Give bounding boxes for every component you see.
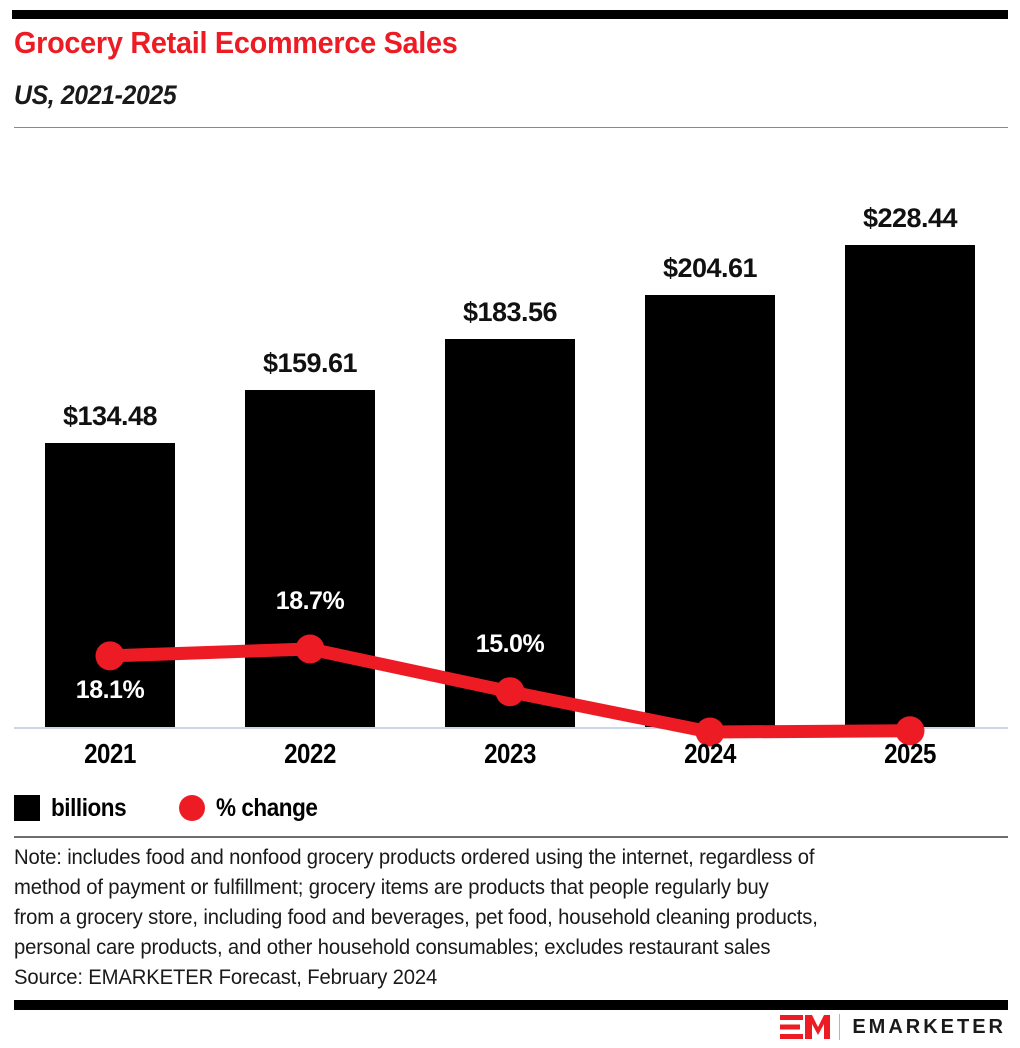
chart-plot-area: $134.48$159.61$183.56$204.61$228.44 18.1… (0, 140, 1020, 740)
x-axis-label-2024: 2024 (637, 738, 783, 770)
x-axis-label-2025: 2025 (837, 738, 983, 770)
note-block: Note: includes food and nonfood grocery … (14, 843, 1004, 993)
x-axis-label-2023: 2023 (437, 738, 583, 770)
legend-label: % change (216, 794, 317, 823)
chart-legend: billions% change (14, 791, 372, 825)
legend-square-icon (14, 795, 40, 821)
legend-label: billions (51, 794, 126, 823)
source-line: Source: EMARKETER Forecast, February 202… (14, 963, 969, 993)
bar-value-label-2022: $159.61 (225, 348, 395, 379)
bar-value-label-2023: $183.56 (425, 297, 595, 328)
em-logo-icon (780, 1015, 830, 1039)
legend-item-2[interactable]: % change (179, 794, 329, 823)
legend-item-1[interactable]: billions (14, 794, 135, 823)
note-line: method of payment or fulfillment; grocer… (14, 873, 969, 903)
note-line: from a grocery store, including food and… (14, 903, 969, 933)
em-mark-svg (780, 1015, 830, 1039)
note-divider-top (14, 836, 1008, 838)
legend-circle-icon (179, 795, 205, 821)
footer: EMARKETER (0, 1010, 1020, 1048)
bar-value-label-2025: $228.44 (825, 203, 995, 234)
percent-label-2021: 18.1% (25, 676, 195, 705)
x-axis-label-2022: 2022 (237, 738, 383, 770)
emarketer-logo: EMARKETER (780, 1013, 1006, 1041)
chart-page: Grocery Retail Ecommerce Sales US, 2021-… (0, 0, 1020, 1048)
logo-wordmark: EMARKETER (852, 1016, 1006, 1039)
note-line: Note: includes food and nonfood grocery … (14, 843, 969, 873)
x-axis-labels: 20212022202320242025 (0, 738, 1020, 772)
data-point-2022 (296, 635, 325, 664)
note-divider-bottom (14, 1000, 1008, 1010)
header-divider (14, 127, 1008, 128)
page-subtitle: US, 2021-2025 (14, 80, 176, 110)
data-point-2021 (96, 641, 125, 670)
logo-divider (839, 1014, 840, 1040)
bar-value-label-2024: $204.61 (625, 253, 795, 284)
percent-label-2023: 15.0% (425, 630, 595, 659)
note-line: personal care products, and other househ… (14, 933, 969, 963)
bar-value-label-2021: $134.48 (25, 401, 195, 432)
top-rule (12, 10, 1008, 19)
x-axis-label-2021: 2021 (37, 738, 183, 770)
percent-label-2022: 18.7% (225, 587, 395, 616)
data-point-2023 (496, 677, 525, 706)
page-title: Grocery Retail Ecommerce Sales (14, 26, 458, 60)
